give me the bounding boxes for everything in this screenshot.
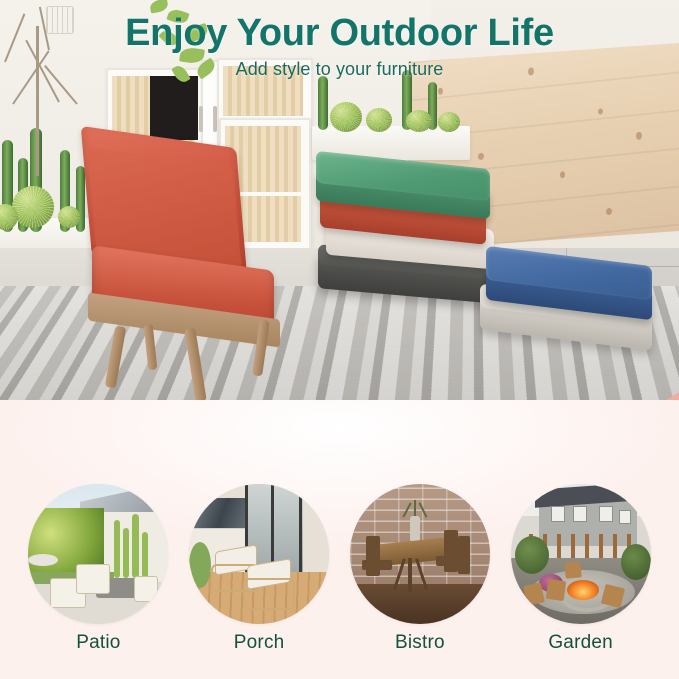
category-item-garden[interactable]: Garden [508,484,654,654]
category-item-porch[interactable]: Porch [186,484,332,654]
chair-leg-front-left [105,326,127,389]
cushion-stack-right [476,250,676,360]
cactus-right-1 [318,76,328,130]
category-label-patio: Patio [76,632,120,654]
category-label-garden: Garden [548,632,613,654]
garden-photo[interactable] [511,484,651,624]
page-subtitle: Add style to your furniture [0,59,679,80]
door-handle-left [199,106,203,132]
chair-leg-back-left [144,324,158,371]
barrel-cactus-right-3 [406,110,432,132]
coral-lounge-chair [70,130,310,380]
barrel-cactus-right-4 [438,112,460,132]
category-row: Patio Porch [0,484,679,664]
page-title: Enjoy Your Outdoor Life [0,14,679,54]
barrel-cactus-right-1 [330,102,362,132]
patio-photo[interactable] [28,484,168,624]
category-item-bistro[interactable]: Bistro [347,484,493,654]
barrel-cactus-1 [12,186,54,228]
category-label-porch: Porch [234,632,285,654]
bistro-photo[interactable] [350,484,490,624]
barrel-cactus-right-2 [366,108,392,132]
title-block: Enjoy Your Outdoor Life Add style to you… [0,14,679,80]
category-label-bistro: Bistro [395,632,445,654]
porch-photo[interactable] [189,484,329,624]
banner-image: Enjoy Your Outdoor Life Add style to you… [0,0,679,679]
category-item-patio[interactable]: Patio [25,484,171,654]
